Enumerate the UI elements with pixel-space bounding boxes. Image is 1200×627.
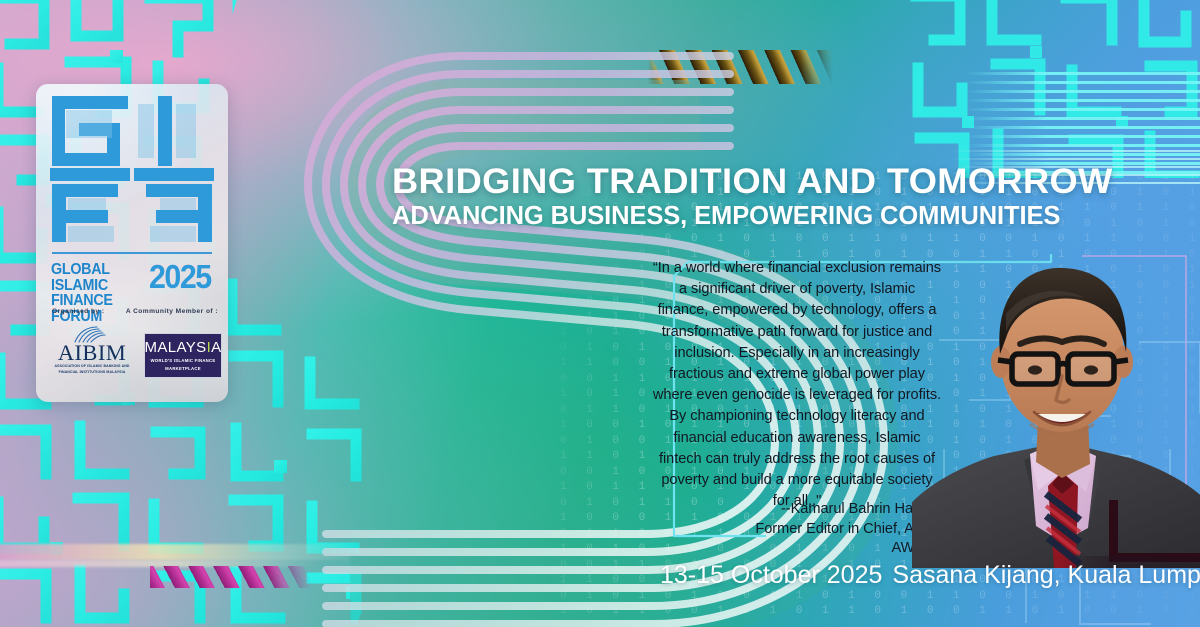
aibim-wordmark: AIBIM: [48, 342, 136, 363]
aibim-swirl-icon: [48, 326, 136, 343]
malaysia-ifm-logo: MALAYSIA WORLD'S ISLAMIC FINANCE MARKETP…: [144, 333, 222, 378]
attribution-line-3: AWANI: [652, 539, 938, 559]
attribution-line-1: --Kamarul Bahrin Haron,: [652, 500, 938, 520]
headline-main: BRIDGING TRADITION AND TOMORROW: [392, 163, 1200, 200]
aibim-logo: AIBIM ASSOCIATION OF ISLAMIC BANKING AND…: [48, 324, 136, 374]
malaysia-subtitle-line-2: MARKETPLACE: [165, 366, 201, 372]
magenta-diagonal-stripes: [150, 566, 312, 588]
portrait-shadow-corner: [1100, 500, 1200, 562]
headline-block: BRIDGING TRADITION AND TOMORROW ADVANCIN…: [392, 163, 1192, 230]
event-date: 13-15 October 2025: [660, 561, 882, 589]
partner-logos: AIBIM ASSOCIATION OF ISLAMIC BANKING AND…: [46, 324, 224, 386]
community-member-label: A Community Member of :: [126, 308, 218, 315]
attribution-line-2: Former Editor in Chief, Astro: [652, 520, 938, 540]
quote-text-block: “In a world where financial exclusion re…: [652, 258, 942, 512]
forum-year: 2025: [149, 261, 211, 292]
headline-sub: ADVANCING BUSINESS, EMPOWERING COMMUNITI…: [392, 202, 1192, 230]
event-venue: Sasana Kijang, Kuala Lumpur: [892, 561, 1200, 589]
malaysia-wordmark: MALAYSIA: [144, 340, 221, 356]
malaysia-suffix: A: [211, 339, 221, 356]
malaysia-prefix: MALAYS: [144, 339, 206, 356]
aibim-subtitle-line-2: FINANCIAL INSTITUTIONS MALAYSIA: [48, 370, 136, 375]
giff-logo-card: GLOBAL ISLAMIC FINANCE FORUM 2025 Organi…: [36, 84, 228, 402]
logo-divider-rule: [52, 252, 212, 254]
organised-by-label: Organised by :: [52, 308, 104, 315]
gold-diagonal-stripes: [648, 50, 833, 84]
event-banner: 1 0 0 0 1 0 0 1 0 1 0 1 1 0 0 1 0 1 1 0 …: [0, 0, 1200, 627]
quote-text: “In a world where financial exclusion re…: [652, 258, 942, 512]
footer-line: 13-15 October 2025Sasana Kijang, Kuala L…: [660, 560, 1180, 590]
malaysia-subtitle-line-1: WORLD'S ISLAMIC FINANCE: [150, 358, 215, 364]
pale-horizontal-band: [0, 544, 360, 560]
forum-title-line-1: GLOBAL ISLAMIC: [51, 262, 137, 293]
event-details-footer: 13-15 October 2025Sasana Kijang, Kuala L…: [660, 560, 1180, 590]
aibim-subtitle-line-1: ASSOCIATION OF ISLAMIC BANKING AND: [48, 364, 136, 369]
partner-labels-row: Organised by : A Community Member of :: [46, 308, 224, 315]
quote-attribution: --Kamarul Bahrin Haron, Former Editor in…: [652, 500, 942, 559]
giff-monogram-icon: [50, 92, 214, 244]
